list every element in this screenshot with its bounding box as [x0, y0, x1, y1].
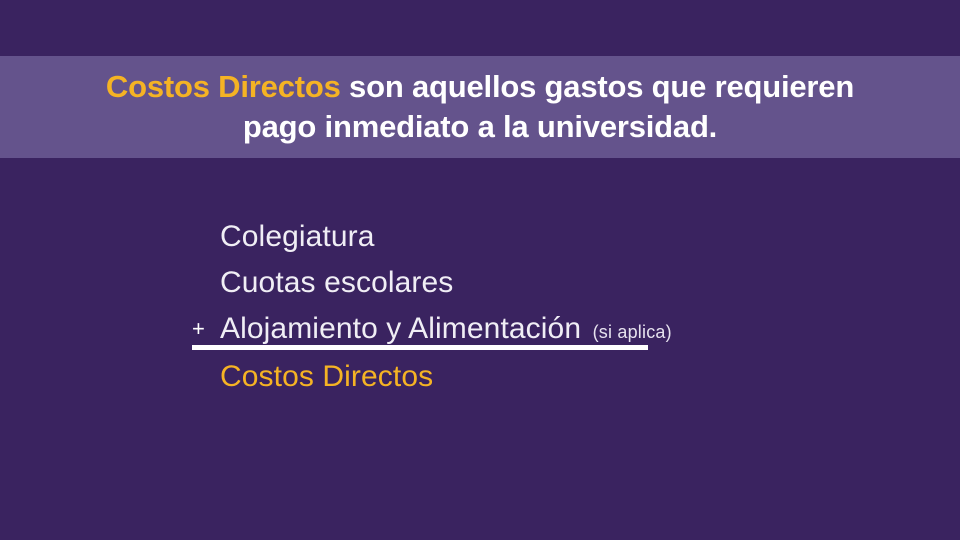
total-row: Costos Directos [220, 354, 433, 400]
list-item-label: Colegiatura [220, 214, 375, 260]
banner-header: Costos Directos son aquellos gastos que … [0, 56, 960, 158]
banner-line-1: Costos Directos son aquellos gastos que … [20, 67, 940, 107]
banner-line-1-rest: son aquellos gastos que requieren [341, 69, 854, 104]
banner-line-2: pago inmediato a la universidad. [20, 107, 940, 147]
sum-rule-divider [192, 345, 648, 350]
slide-canvas: Costos Directos son aquellos gastos que … [0, 0, 960, 540]
list-item-label: Cuotas escolares [220, 260, 453, 306]
banner-accent-term: Costos Directos [106, 69, 341, 104]
cost-list: Colegiatura Cuotas escolares + Alojamien… [192, 214, 812, 352]
list-item: Cuotas escolares [192, 260, 812, 306]
total-label: Costos Directos [220, 360, 433, 393]
list-item: Colegiatura [192, 214, 812, 260]
